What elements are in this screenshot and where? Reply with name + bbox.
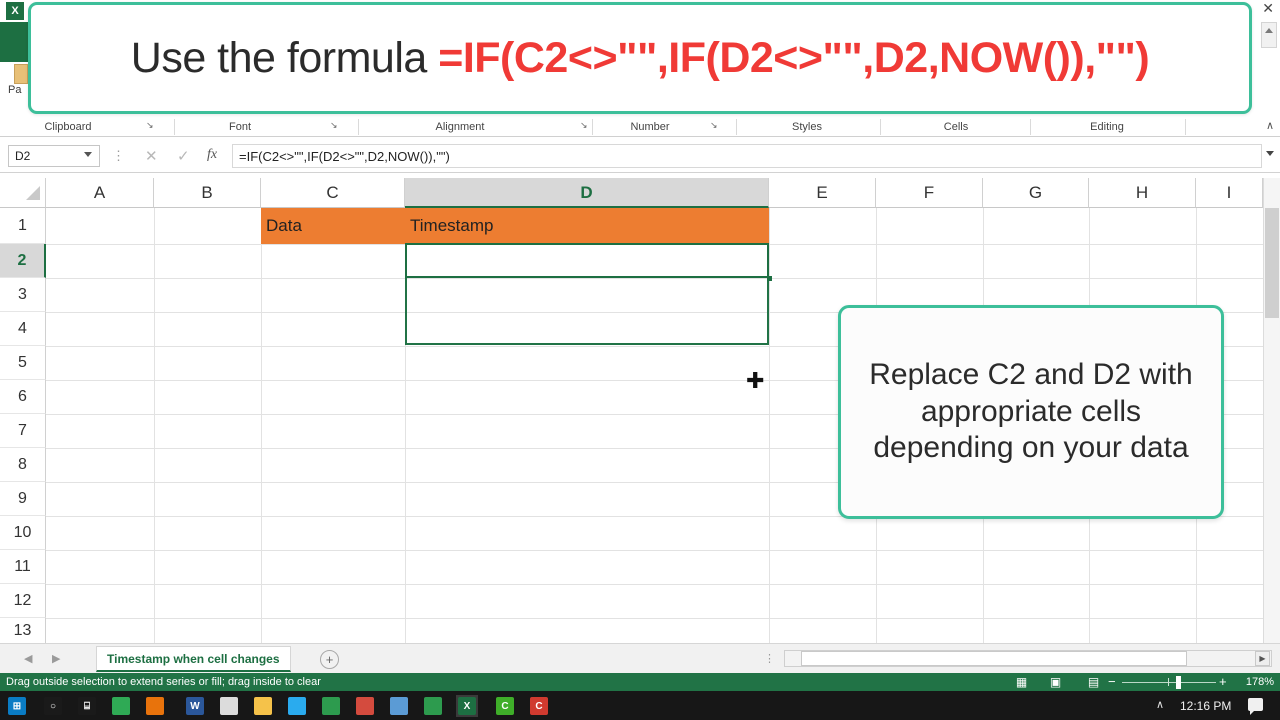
collapse-ribbon-icon[interactable]: ∧	[1266, 119, 1274, 132]
ribbon-group-font: Font	[190, 117, 290, 137]
column-header-A[interactable]: A	[46, 178, 154, 208]
next-sheet-icon[interactable]: ▶	[52, 652, 60, 665]
banner-text: Use the formula =IF(C2<>"",IF(D2<>"",D2,…	[131, 34, 1149, 83]
dialog-launcher-alignment-icon[interactable]: ↘	[580, 121, 589, 130]
row-header-1[interactable]: 1	[0, 208, 46, 244]
column-header-C[interactable]: C	[261, 178, 405, 208]
telegram-icon-glyph	[288, 697, 306, 715]
notification-icon[interactable]	[1248, 698, 1263, 711]
column-header-E[interactable]: E	[769, 178, 876, 208]
select-all-triangle-icon	[26, 186, 40, 200]
vertical-scrollbar[interactable]	[1263, 178, 1280, 643]
name-box-dropdown-icon[interactable]	[84, 152, 92, 157]
excel-window-icon-glyph: X	[458, 697, 476, 715]
ribbon-group-editing: Editing	[1057, 117, 1157, 137]
scroll-up-arrow-icon	[1265, 28, 1273, 33]
page-layout-view-icon[interactable]: ▣	[1048, 675, 1063, 689]
status-bar: Drag outside selection to extend series …	[0, 673, 1280, 691]
keyboard-icon-glyph	[390, 697, 408, 715]
banner-formula: =IF(C2<>"",IF(D2<>"",D2,NOW()),"")	[438, 34, 1149, 82]
show-hidden-icons-icon[interactable]: ∧	[1156, 700, 1164, 711]
gridline-v	[769, 208, 770, 643]
confirm-formula-icon[interactable]: ✓	[177, 147, 190, 165]
row-header-5[interactable]: 5	[0, 346, 46, 380]
callout-text: Replace C2 and D2 with appropriate cells…	[855, 357, 1207, 467]
row-header-2[interactable]: 2	[0, 244, 46, 278]
chrome-window-icon-glyph	[424, 697, 442, 715]
excel-window: X Pa ✕ ∧ Clipboard↘Font↘Alignment↘Number…	[0, 0, 1280, 720]
ribbon-separator-1	[358, 119, 359, 135]
ribbon-separator-0	[174, 119, 175, 135]
column-header-D[interactable]: D	[405, 178, 769, 208]
row-header-4[interactable]: 4	[0, 312, 46, 346]
expand-formula-bar-icon[interactable]	[1266, 151, 1274, 156]
column-header-H[interactable]: H	[1089, 178, 1196, 208]
column-header-G[interactable]: G	[983, 178, 1089, 208]
gridline-h	[46, 618, 1280, 619]
row-header-7[interactable]: 7	[0, 414, 46, 448]
fill-handle[interactable]	[767, 276, 772, 281]
ribbon-separator-2	[592, 119, 593, 135]
excel-icon: X	[6, 2, 24, 20]
formula-bar-row: D2 ⋮ ✕ ✓ fx =IF(C2<>"",IF(D2<>"",D2,NOW(…	[0, 139, 1280, 173]
paste-button-label: Pa	[8, 84, 21, 96]
app-green-icon-glyph	[112, 697, 130, 715]
row-header-3[interactable]: 3	[0, 278, 46, 312]
row-header-6[interactable]: 6	[0, 380, 46, 414]
dialog-launcher-number-icon[interactable]: ↘	[710, 121, 719, 130]
cancel-formula-icon[interactable]: ✕	[145, 147, 158, 165]
horizontal-scrollbar-thumb[interactable]	[801, 651, 1187, 666]
vertical-scroll-up-area[interactable]	[1261, 22, 1277, 48]
banner-prefix: Use the formula	[131, 34, 438, 82]
row-header-12[interactable]: 12	[0, 584, 46, 618]
cell-D1[interactable]: Timestamp	[405, 208, 769, 244]
app-red-icon-glyph: C	[530, 697, 548, 715]
column-header-I[interactable]: I	[1196, 178, 1263, 208]
vertical-scrollbar-thumb[interactable]	[1265, 208, 1279, 318]
row-header-8[interactable]: 8	[0, 448, 46, 482]
zoom-out-button[interactable]: −	[1108, 675, 1116, 689]
zoom-slider-handle[interactable]	[1176, 676, 1181, 689]
status-message: Drag outside selection to extend series …	[6, 676, 321, 688]
fill-crosshair-cursor-icon: ✚	[746, 370, 764, 392]
formula-input[interactable]: =IF(C2<>"",IF(D2<>"",D2,NOW()),"")	[232, 144, 1262, 168]
previous-sheet-icon[interactable]: ◀	[24, 652, 32, 665]
row-header-9[interactable]: 9	[0, 482, 46, 516]
page-break-view-icon[interactable]: ▤	[1086, 675, 1101, 689]
instruction-callout: Replace C2 and D2 with appropriate cells…	[838, 305, 1224, 519]
column-header-B[interactable]: B	[154, 178, 261, 208]
sheet-tab-active[interactable]: Timestamp when cell changes	[96, 646, 291, 672]
gridline-h	[46, 584, 1280, 585]
zoom-slider-midpoint	[1168, 678, 1169, 686]
dialog-launcher-clipboard-icon[interactable]: ↘	[146, 121, 155, 130]
notepad-icon-glyph	[220, 697, 238, 715]
zoom-level-label[interactable]: 178%	[1246, 676, 1274, 688]
paint-icon-glyph	[356, 697, 374, 715]
ribbon-group-number: Number	[600, 117, 700, 137]
windows-taskbar: ⊞○⌸WXCC ∧ 12:16 PM	[0, 691, 1280, 720]
select-all-button[interactable]	[0, 178, 46, 208]
ribbon-separator-5	[1030, 119, 1031, 135]
gridline-h	[46, 550, 1280, 551]
zoom-slider-track[interactable]	[1122, 682, 1216, 683]
tab-split-handle[interactable]: ⋮	[764, 654, 775, 664]
formula-bar-divider-icon: ⋮	[112, 149, 125, 162]
row-header-11[interactable]: 11	[0, 550, 46, 584]
add-sheet-button[interactable]: +	[320, 650, 339, 669]
cell-C1[interactable]: Data	[261, 208, 405, 244]
system-clock[interactable]: 12:16 PM	[1180, 699, 1231, 713]
task-view-glyph: ⌸	[78, 697, 96, 715]
hscroll-right-icon[interactable]: ▶	[1255, 651, 1270, 666]
paste-icon[interactable]	[14, 64, 28, 84]
vlc-icon-glyph	[146, 697, 164, 715]
gridline-v	[154, 208, 155, 643]
ribbon-group-styles: Styles	[757, 117, 857, 137]
ribbon-separator-6	[1185, 119, 1186, 135]
ribbon-separator-3	[736, 119, 737, 135]
word-icon-glyph: W	[186, 697, 204, 715]
chrome-icon-glyph	[322, 697, 340, 715]
ribbon-group-clipboard: Clipboard	[18, 117, 118, 137]
close-icon[interactable]: ✕	[1262, 1, 1274, 15]
app-green2-icon-glyph: C	[496, 697, 514, 715]
column-header-F[interactable]: F	[876, 178, 983, 208]
row-header-10[interactable]: 10	[0, 516, 46, 550]
start-button-glyph: ⊞	[8, 697, 26, 715]
ribbon-group-alignment: Alignment	[408, 117, 512, 137]
gridline-v	[261, 208, 262, 643]
ribbon-group-labels: ∧ Clipboard↘Font↘Alignment↘Number↘Styles…	[0, 117, 1280, 137]
cortana-search-glyph: ○	[44, 697, 62, 715]
active-cell-selection-D2[interactable]	[405, 243, 769, 278]
zoom-in-button[interactable]: +	[1219, 675, 1227, 689]
formula-instruction-banner: Use the formula =IF(C2<>"",IF(D2<>"",D2,…	[28, 2, 1252, 114]
file-explorer-icon-glyph	[254, 697, 272, 715]
ribbon-group-cells: Cells	[906, 117, 1006, 137]
row-header-13[interactable]: 13	[0, 618, 46, 644]
insert-function-icon[interactable]: fx	[207, 147, 217, 163]
ribbon-separator-4	[880, 119, 881, 135]
dialog-launcher-font-icon[interactable]: ↘	[330, 121, 339, 130]
normal-view-icon[interactable]: ▦	[1014, 675, 1029, 689]
